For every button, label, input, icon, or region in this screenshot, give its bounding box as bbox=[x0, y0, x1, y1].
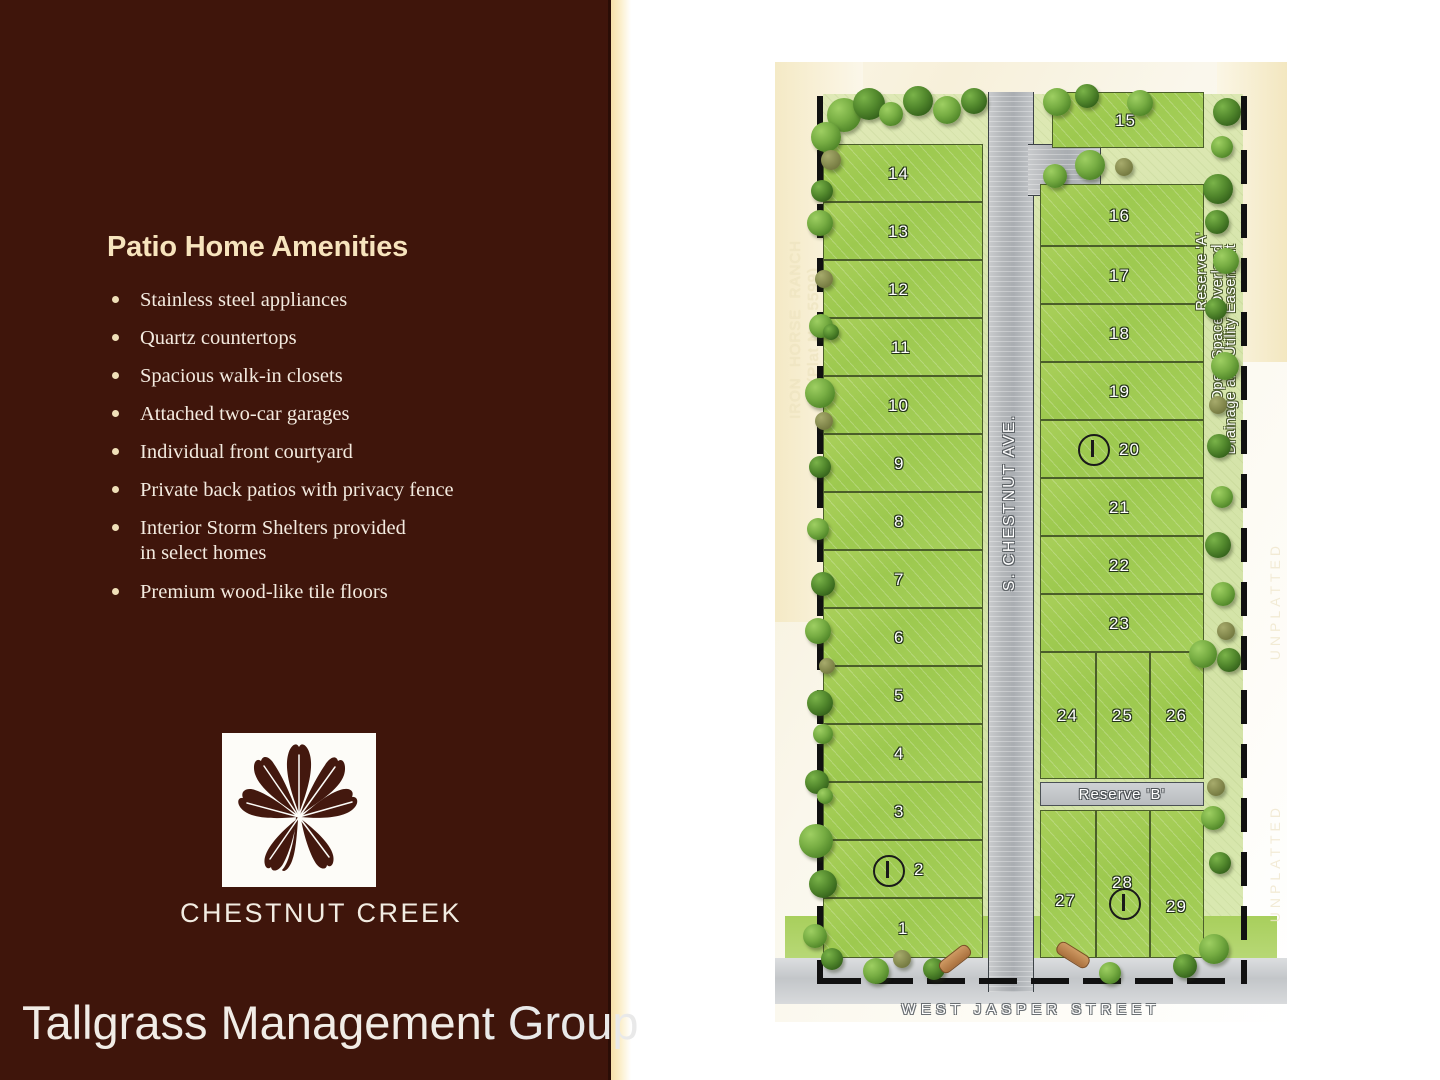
tree-icon bbox=[1205, 210, 1229, 234]
lot-7[interactable]: 7 bbox=[823, 550, 983, 608]
chestnut-leaf-icon bbox=[222, 733, 376, 887]
storm-shelter-marker-lot2[interactable] bbox=[873, 855, 905, 887]
lot-4[interactable]: 4 bbox=[823, 724, 983, 782]
tree-icon bbox=[863, 958, 889, 984]
tree-icon bbox=[1209, 852, 1231, 874]
boundary-dash bbox=[823, 978, 861, 984]
tree-icon bbox=[809, 456, 831, 478]
lot-number: 4 bbox=[894, 744, 904, 764]
bullet-icon bbox=[112, 524, 119, 531]
lot-number: 9 bbox=[894, 454, 904, 474]
amenity-label-line1: Interior Storm Shelters provided bbox=[140, 517, 406, 539]
list-item: Stainless steel appliances bbox=[104, 288, 574, 313]
lot-number: 17 bbox=[1109, 266, 1130, 286]
panel-accent-gradient bbox=[611, 0, 631, 1080]
lot-number: 1 bbox=[898, 919, 908, 939]
list-item: Interior Storm Shelters provided in sele… bbox=[104, 516, 574, 566]
tree-icon bbox=[815, 412, 833, 430]
lot-21[interactable]: 21 bbox=[1040, 478, 1204, 536]
tree-icon bbox=[1173, 954, 1197, 978]
lot-number: 13 bbox=[888, 222, 909, 242]
bullet-icon bbox=[112, 486, 119, 493]
tree-icon bbox=[961, 88, 987, 114]
tree-icon bbox=[807, 518, 829, 540]
boundary-dash bbox=[1241, 150, 1247, 184]
tree-icon bbox=[1099, 962, 1121, 984]
tree-icon bbox=[823, 324, 839, 340]
lot-number: 12 bbox=[888, 280, 909, 300]
lot-number: 16 bbox=[1109, 206, 1130, 226]
tree-icon bbox=[1211, 582, 1235, 606]
boundary-dash bbox=[1241, 582, 1247, 616]
footer-title-part1: Tallgrass Managemen bbox=[22, 996, 482, 1049]
lot-14[interactable]: 14 bbox=[823, 144, 983, 202]
list-item: Spacious walk-in closets bbox=[104, 364, 574, 389]
lot-24[interactable]: 24 bbox=[1040, 652, 1096, 779]
boundary-dash bbox=[1241, 204, 1247, 238]
lot-28[interactable]: 28 bbox=[1096, 810, 1150, 958]
amenities-list: Stainless steel appliances Quartz counte… bbox=[104, 288, 574, 618]
bullet-icon bbox=[112, 372, 119, 379]
lot-number: 21 bbox=[1109, 498, 1130, 518]
reserve-a-sub2: Drainage and Utility Easement bbox=[1223, 244, 1239, 454]
tree-icon bbox=[811, 122, 841, 152]
lot-22[interactable]: 22 bbox=[1040, 536, 1204, 594]
tree-icon bbox=[1217, 648, 1241, 672]
lot-number: 23 bbox=[1109, 614, 1130, 634]
boundary-dash bbox=[1241, 906, 1247, 940]
lot-26[interactable]: 26 bbox=[1150, 652, 1204, 779]
tree-icon bbox=[1201, 806, 1225, 830]
lot-10[interactable]: 10 bbox=[823, 376, 983, 434]
boundary-dash bbox=[1241, 420, 1247, 454]
tree-icon bbox=[809, 870, 837, 898]
tree-icon bbox=[1075, 84, 1099, 108]
lot-13[interactable]: 13 bbox=[823, 202, 983, 260]
lot-8[interactable]: 8 bbox=[823, 492, 983, 550]
boundary-dash bbox=[817, 474, 823, 508]
lot-11[interactable]: 11 bbox=[823, 318, 983, 376]
boundary-dash bbox=[1187, 978, 1225, 984]
lot-number: 20 bbox=[1119, 440, 1140, 460]
tree-icon bbox=[1199, 934, 1229, 964]
amenity-label: Premium wood-like tile floors bbox=[140, 581, 388, 603]
street-name-jasper: WEST JASPER STREET bbox=[775, 1001, 1287, 1018]
boundary-dash bbox=[1241, 852, 1247, 886]
tree-icon bbox=[1043, 164, 1067, 188]
storm-shelter-marker-lot28[interactable] bbox=[1109, 888, 1141, 920]
tree-icon bbox=[807, 690, 833, 716]
tree-icon bbox=[817, 788, 833, 804]
tree-icon bbox=[1127, 90, 1153, 116]
reserve-a-label: Reserve 'A' bbox=[1195, 232, 1210, 311]
site-plan-map: S. CHESTNUT AVE. 14 13 12 11 10 9 8 7 6 … bbox=[775, 62, 1287, 1022]
tree-icon bbox=[819, 658, 835, 674]
tree-icon bbox=[813, 724, 833, 744]
tree-icon bbox=[933, 96, 961, 124]
footer-title-part2: t Group bbox=[482, 996, 639, 1049]
unplatted-label-bottom: UNPLATTED bbox=[1267, 804, 1283, 922]
reserve-a-title: Reserve 'A' bbox=[1194, 232, 1210, 311]
unplatted-label-bottom-wrap: UNPLATTED bbox=[1267, 804, 1283, 922]
lot-number: 26 bbox=[1166, 706, 1187, 726]
boundary-dash bbox=[979, 978, 1017, 984]
lot-29[interactable]: 29 bbox=[1150, 810, 1204, 958]
lot-number: 7 bbox=[894, 570, 904, 590]
list-item: Individual front courtyard bbox=[104, 440, 574, 465]
bullet-icon bbox=[112, 334, 119, 341]
slide-root: Patio Home Amenities Stainless steel app… bbox=[0, 0, 1440, 1080]
bullet-icon bbox=[112, 588, 119, 595]
lot-6[interactable]: 6 bbox=[823, 608, 983, 666]
tree-icon bbox=[1203, 174, 1233, 204]
tree-icon bbox=[1205, 532, 1231, 558]
lot-number: 2 bbox=[914, 860, 924, 880]
reserve-b-label: Reserve 'B' bbox=[1079, 786, 1166, 803]
reserve-b-strip: Reserve 'B' bbox=[1040, 782, 1204, 806]
tree-icon bbox=[811, 180, 833, 202]
lot-20[interactable]: 20 bbox=[1040, 420, 1204, 478]
boundary-dash bbox=[1241, 690, 1247, 724]
lot-number: 24 bbox=[1057, 706, 1078, 726]
boundary-dash bbox=[1241, 258, 1247, 292]
tree-icon bbox=[1213, 98, 1241, 126]
lot-12[interactable]: 12 bbox=[823, 260, 983, 318]
footer-company-title: Tallgrass Management Group bbox=[22, 995, 639, 1050]
lot-number: 5 bbox=[894, 686, 904, 706]
tree-icon bbox=[1207, 434, 1231, 458]
boundary-dash bbox=[1135, 978, 1173, 984]
tree-icon bbox=[879, 102, 903, 126]
boundary-dash bbox=[1241, 744, 1247, 778]
tree-icon bbox=[1213, 248, 1239, 274]
reserve-a-sub2-wrap: Drainage and Utility Easement bbox=[1224, 244, 1239, 454]
tree-icon bbox=[1115, 158, 1133, 176]
bullet-icon bbox=[112, 448, 119, 455]
boundary-dash bbox=[1241, 474, 1247, 508]
lot-number: 22 bbox=[1109, 556, 1130, 576]
tree-icon bbox=[815, 270, 833, 288]
list-item: Private back patios with privacy fence bbox=[104, 478, 574, 503]
bullet-icon bbox=[112, 410, 119, 417]
amenity-label-line2: in select homes bbox=[140, 541, 574, 566]
lot-17[interactable]: 17 bbox=[1040, 246, 1204, 304]
unplatted-label-top: UNPLATTED bbox=[1267, 542, 1283, 660]
lot-5[interactable]: 5 bbox=[823, 666, 983, 724]
lot-16[interactable]: 16 bbox=[1040, 184, 1204, 246]
tree-icon bbox=[1207, 778, 1225, 796]
list-item: Attached two-car garages bbox=[104, 402, 574, 427]
tree-icon bbox=[807, 210, 833, 236]
lot-number: 14 bbox=[888, 164, 909, 184]
tree-icon bbox=[1211, 486, 1233, 508]
amenity-label: Spacious walk-in closets bbox=[140, 365, 343, 387]
unplatted-label-top-wrap: UNPLATTED bbox=[1267, 542, 1283, 660]
neighbor-label-line1: IRON HORSE RANCH bbox=[787, 240, 804, 419]
tree-icon bbox=[1211, 352, 1239, 380]
tree-icon bbox=[893, 950, 911, 968]
lot-18[interactable]: 18 bbox=[1040, 304, 1204, 362]
lot-number: 25 bbox=[1112, 706, 1133, 726]
lot-number: 3 bbox=[894, 802, 904, 822]
logo-wordmark: CHESTNUT CREEK bbox=[180, 898, 430, 929]
boundary-dash bbox=[1241, 96, 1247, 130]
tree-icon bbox=[821, 948, 843, 970]
tree-icon bbox=[1217, 622, 1235, 640]
logo-mark bbox=[222, 733, 376, 887]
boundary-dash bbox=[1241, 960, 1247, 984]
bullet-icon bbox=[112, 296, 119, 303]
list-item: Quartz countertops bbox=[104, 326, 574, 351]
boundary-dash bbox=[1241, 636, 1247, 670]
boundary-dash bbox=[1241, 312, 1247, 346]
tree-icon bbox=[805, 378, 835, 408]
lot-number: 19 bbox=[1109, 382, 1130, 402]
tree-icon bbox=[821, 150, 841, 170]
street-name-chestnut: S. CHESTNUT AVE. bbox=[1001, 414, 1019, 591]
tree-icon bbox=[1043, 88, 1071, 116]
boundary-dash bbox=[1241, 366, 1247, 400]
amenity-label: Private back patios with privacy fence bbox=[140, 479, 454, 501]
storm-shelter-marker-lot20[interactable] bbox=[1078, 434, 1110, 466]
tree-icon bbox=[805, 618, 831, 644]
boundary-dash bbox=[1241, 528, 1247, 562]
lot-number: 6 bbox=[894, 628, 904, 648]
lot-27[interactable]: 27 bbox=[1040, 810, 1096, 958]
lot-number: 8 bbox=[894, 512, 904, 532]
lot-number: 27 bbox=[1055, 891, 1076, 911]
tree-icon bbox=[1209, 396, 1227, 414]
tree-icon bbox=[903, 86, 933, 116]
tree-icon bbox=[1189, 640, 1217, 668]
lot-number: 29 bbox=[1166, 897, 1187, 917]
amenity-label: Attached two-car garages bbox=[140, 403, 349, 425]
boundary-dash bbox=[1031, 978, 1069, 984]
amenity-label: Individual front courtyard bbox=[140, 441, 353, 463]
lot-number: 10 bbox=[888, 396, 909, 416]
tree-icon bbox=[1075, 150, 1105, 180]
lot-9[interactable]: 9 bbox=[823, 434, 983, 492]
page-title: Patio Home Amenities bbox=[107, 231, 408, 264]
lot-number: 11 bbox=[891, 338, 911, 358]
tree-icon bbox=[799, 824, 833, 858]
amenity-label: Quartz countertops bbox=[140, 327, 297, 349]
lot-23[interactable]: 23 bbox=[1040, 594, 1204, 652]
boundary-dash bbox=[1241, 798, 1247, 832]
lot-3[interactable]: 3 bbox=[823, 782, 983, 840]
tree-icon bbox=[811, 572, 835, 596]
lot-25[interactable]: 25 bbox=[1096, 652, 1150, 779]
neighbor-label-line1-wrap: IRON HORSE RANCH bbox=[787, 240, 804, 419]
tree-icon bbox=[1205, 298, 1227, 320]
lot-19[interactable]: 19 bbox=[1040, 362, 1204, 420]
lot-number: 18 bbox=[1109, 324, 1130, 344]
list-item: Premium wood-like tile floors bbox=[104, 580, 574, 605]
tree-icon bbox=[803, 924, 827, 948]
tree-icon bbox=[1211, 136, 1233, 158]
amenity-label: Stainless steel appliances bbox=[140, 289, 347, 311]
